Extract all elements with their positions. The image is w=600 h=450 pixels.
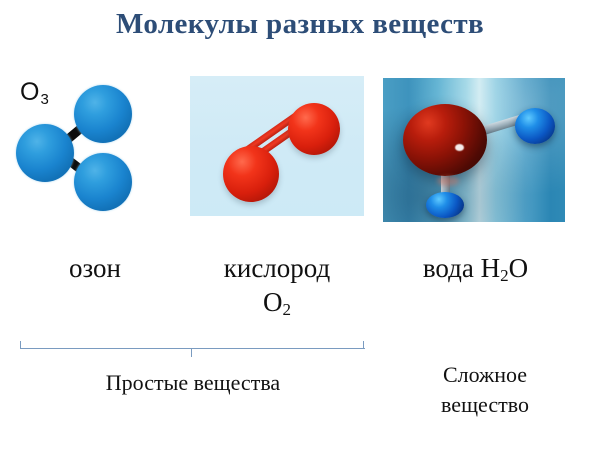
label-water-formula-tail: О [509,253,529,283]
ozone-atom-lower-icon [74,153,132,211]
label-oxygen-name: кислород [224,253,330,283]
water-hydrogen-lower-atom-icon [426,192,464,218]
ozone-atom-upper-icon [74,85,132,143]
simple-substances-bracket [20,341,365,357]
ozone-molecule-figure: O3 [14,76,174,216]
label-water: вода Н2О [378,252,573,286]
bracket-left-tick [20,341,21,349]
water-oxygen-highlight-icon [455,144,464,151]
ozone-formula-label: O3 [20,80,48,105]
water-oxygen-glow-icon [437,176,459,186]
water-oxygen-atom-icon [403,104,487,176]
label-oxygen: кислород О2 [178,252,376,320]
oxygen-molecule-image [190,76,364,216]
label-water-formula-subscript: 2 [500,266,509,285]
caption-simple-substances: Простые вещества [18,368,368,398]
water-molecule-image [383,78,565,222]
label-oxygen-formula-base: О [263,287,283,317]
water-hydrogen-right-atom-icon [515,108,555,144]
caption-complex-line1: Сложное [443,362,527,387]
label-ozone: озон [10,252,180,286]
bracket-right-tick [363,341,364,349]
ozone-formula-base: O [20,78,39,106]
oxygen-atom-lower-left-icon [223,146,279,202]
label-oxygen-formula-subscript: 2 [283,300,292,319]
bracket-horizontal-line [20,348,365,349]
page-title: Молекулы разных веществ [0,8,600,41]
oxygen-atom-upper-right-icon [288,103,340,155]
bracket-center-tick [191,348,192,357]
ozone-atom-left-icon [16,124,74,182]
ozone-formula-subscript: 3 [40,91,48,108]
image-watermark [316,194,358,210]
caption-complex-line2: вещество [441,392,529,417]
caption-complex-substance: Сложное вещество [395,360,575,421]
label-water-name: вода Н [423,253,500,283]
